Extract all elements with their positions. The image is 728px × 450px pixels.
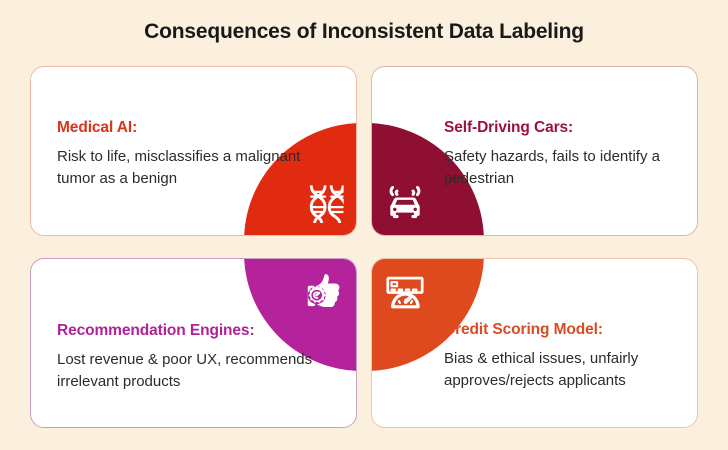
dna-icon xyxy=(302,181,344,223)
card-heading-medical-ai: Medical AI: xyxy=(57,119,330,137)
card-text-recommendation-engines: Lost revenue & poor UX, recommends irrel… xyxy=(57,349,329,392)
card-medical-ai: Medical AI: Risk to life, misclassifies … xyxy=(30,66,357,236)
card-self-driving-cars: Self-Driving Cars: Safety hazards, fails… xyxy=(371,66,698,236)
card-text-credit-scoring-model: Bias & ethical issues, unfairly approves… xyxy=(444,348,671,391)
page-title: Consequences of Inconsistent Data Labeli… xyxy=(0,20,728,44)
card-credit-scoring-model: Credit Scoring Model: Bias & ethical iss… xyxy=(371,258,698,428)
consequences-card-grid: Medical AI: Risk to life, misclassifies … xyxy=(30,66,698,428)
credit-score-gauge-icon xyxy=(384,271,426,313)
thumbs-up-gear-icon xyxy=(302,271,344,313)
infographic-page: Consequences of Inconsistent Data Labeli… xyxy=(0,0,728,450)
card-heading-self-driving-cars: Self-Driving Cars: xyxy=(444,119,671,137)
card-text-self-driving-cars: Safety hazards, fails to identify a pede… xyxy=(444,146,671,189)
card-heading-credit-scoring-model: Credit Scoring Model: xyxy=(444,321,671,339)
card-recommendation-engines: Recommendation Engines: Lost revenue & p… xyxy=(30,258,357,428)
self-driving-car-icon xyxy=(384,181,426,223)
